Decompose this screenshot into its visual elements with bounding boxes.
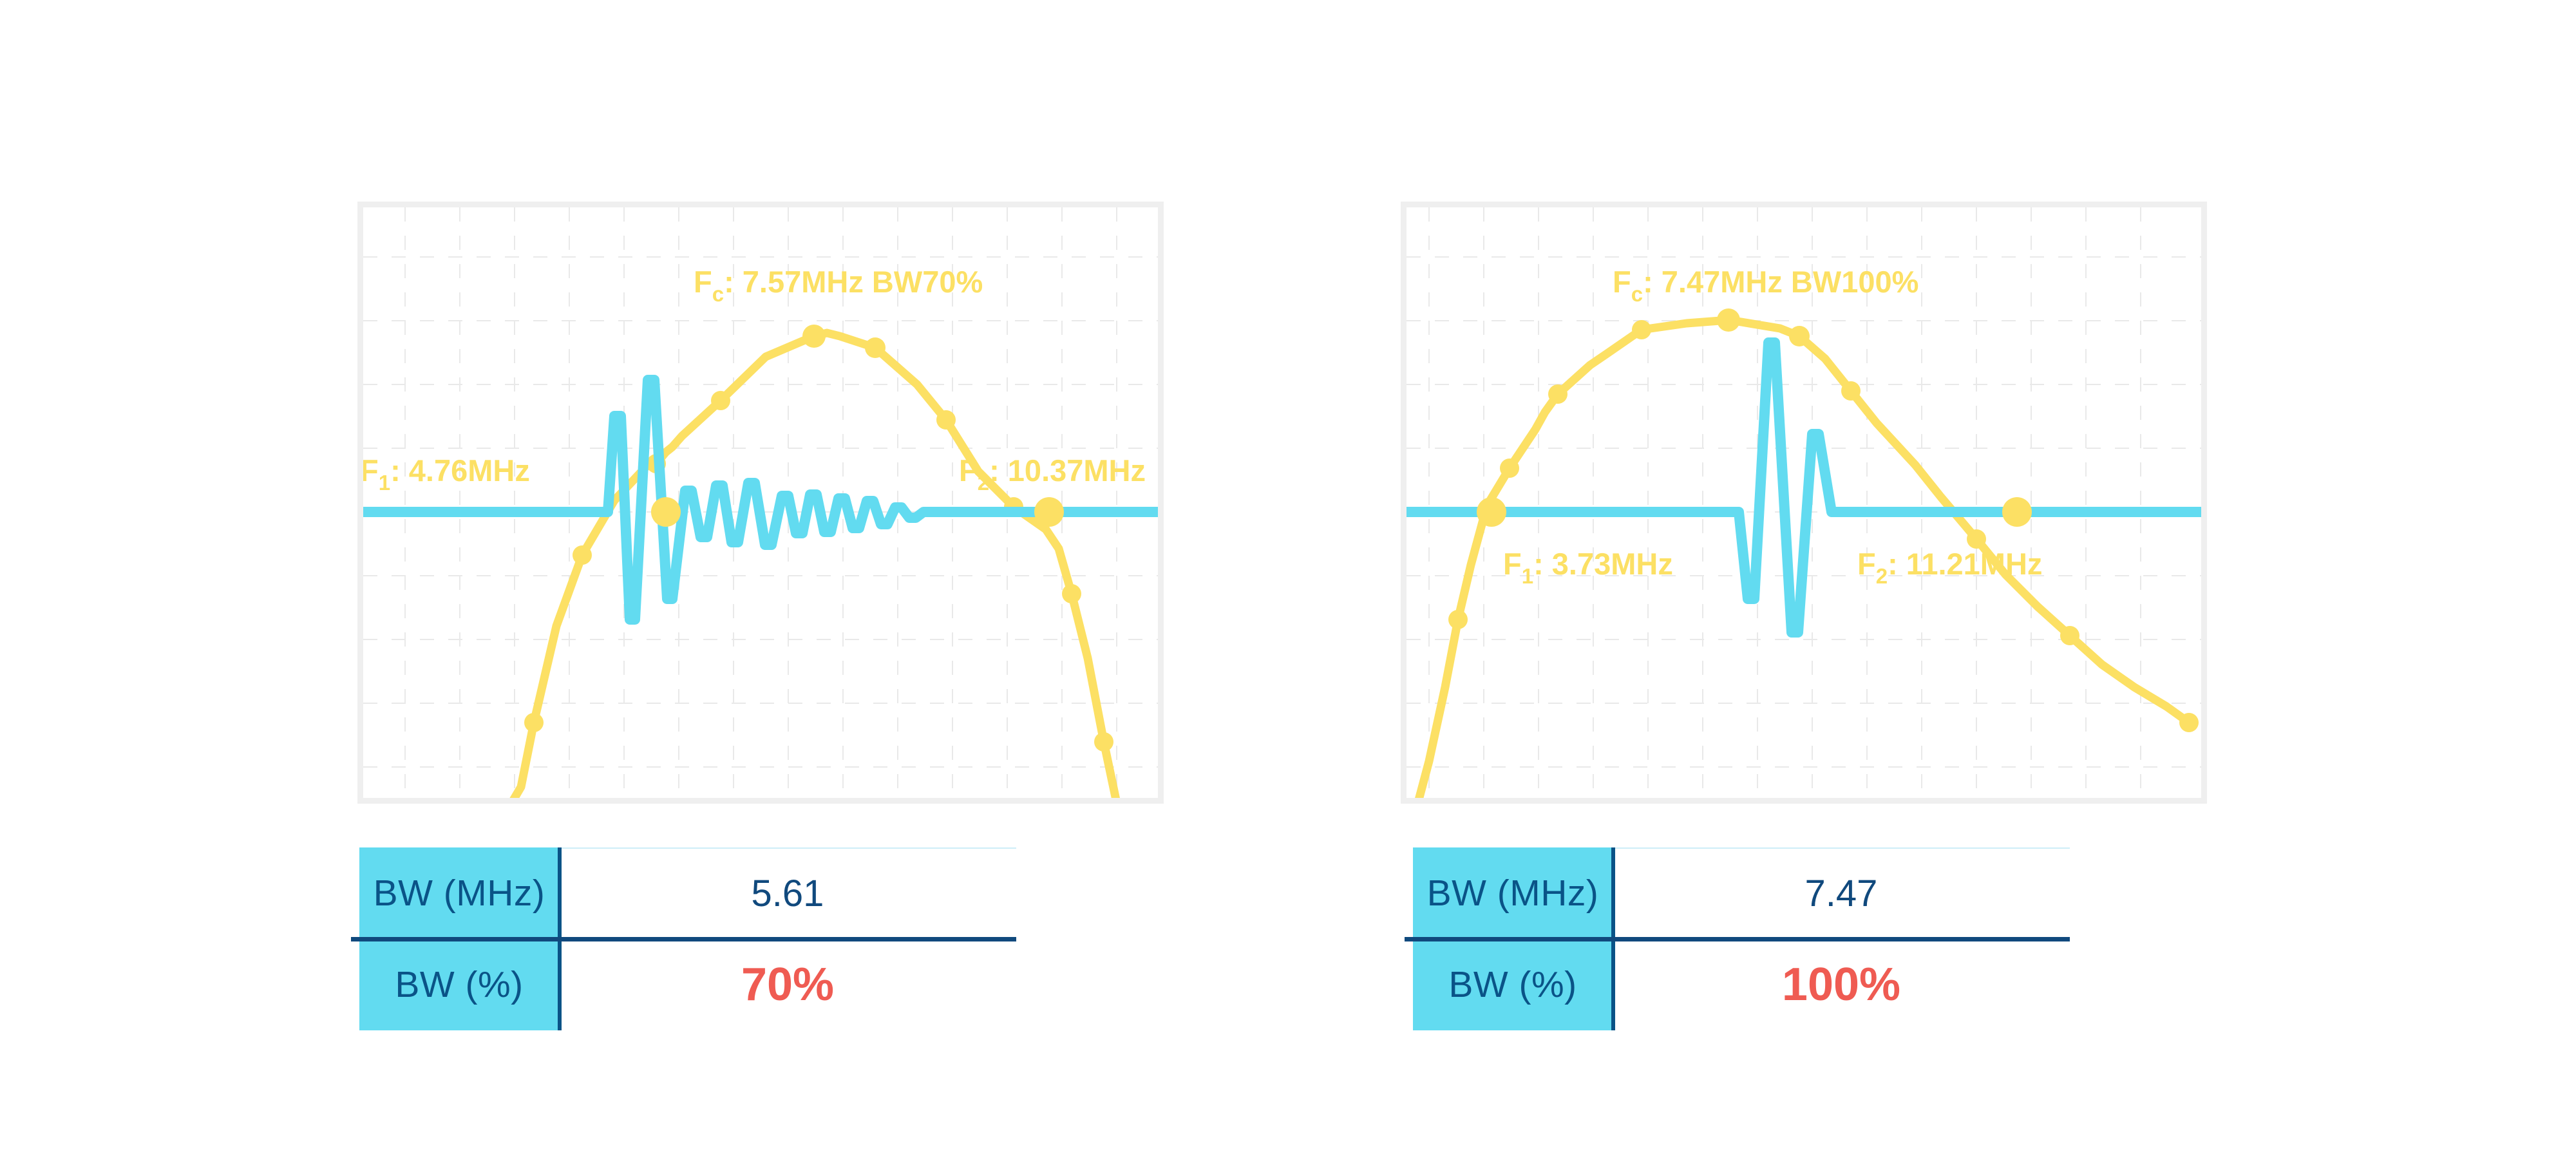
chart-panel-right: Fc: 7.47MHz BW100% F1: 3.73MHz F2: 11.21… (1401, 202, 2207, 804)
left-plot-svg: Fc: 7.57MHz BW70% F1: 4.76MHz F2: 10.37M… (363, 207, 1158, 798)
f1-prefix: F (363, 453, 379, 487)
annotation-upper-cutoff: F2: 10.37MHz (959, 453, 1146, 495)
f2-prefix: F (1857, 547, 1876, 581)
f1-subscript: 1 (1522, 564, 1533, 588)
row-value-cell-bw-percent: 70% (559, 939, 1016, 1030)
row-value-cell-bw-mhz: 7.47 (1613, 847, 2070, 939)
bw-percent-value: 70% (741, 958, 834, 1011)
row-header-bw-mhz: BW (MHz) (359, 847, 559, 939)
spectrum-curve (489, 333, 1117, 798)
fc-prefix: F (694, 265, 712, 299)
f1-text: : 3.73MHz (1533, 547, 1673, 581)
svg-text:Fc: 7.47MHz BW100%: Fc: 7.47MHz BW100% (1613, 265, 1918, 306)
fc-text: : 7.57MHz BW70% (724, 265, 983, 299)
f1-prefix: F (1503, 547, 1522, 581)
annotation-lower-cutoff: F1: 4.76MHz (363, 453, 530, 495)
row-header-bw-percent: BW (%) (1413, 939, 1613, 1030)
time-waveform (363, 380, 1158, 620)
spectrum-markers (524, 325, 1113, 752)
row-header-bw-mhz: BW (MHz) (1413, 847, 1613, 939)
row-header-bw-percent: BW (%) (359, 939, 559, 1030)
annotation-center-frequency: Fc: 7.57MHz BW70% (694, 265, 983, 306)
row-value-cell-bw-mhz: 5.61 (559, 847, 1016, 939)
annotation-center-frequency: Fc: 7.47MHz BW100% (1613, 265, 1918, 306)
f2-text: : 11.21MHz (1888, 547, 2042, 581)
table-row-divider (351, 937, 1016, 941)
bw-mhz-value: 7.47 (1805, 872, 1878, 915)
bw-table-right: BW (MHz) 7.47 BW (%) 100% (1413, 847, 2070, 1030)
table-row-divider (1405, 937, 2070, 941)
f1-subscript: 1 (379, 471, 390, 495)
table-row: BW (%) 100% (1413, 939, 2070, 1030)
row-header-label: BW (MHz) (374, 872, 545, 914)
chart-panel-left: Fc: 7.57MHz BW70% F1: 4.76MHz F2: 10.37M… (357, 202, 1164, 804)
bw-table-left: BW (MHz) 5.61 BW (%) 70% (359, 847, 1016, 1030)
svg-text:F2: 10.37MHz: F2: 10.37MHz (959, 453, 1146, 495)
f1-text: : 4.76MHz (390, 453, 530, 487)
f2-subscript: 2 (1876, 564, 1888, 588)
time-waveform (1406, 343, 2201, 632)
svg-text:Fc: 7.57MHz BW70%: Fc: 7.57MHz BW70% (694, 265, 983, 306)
f2-subscript: 2 (978, 471, 989, 495)
fc-subscript: c (712, 282, 724, 306)
table-row: BW (MHz) 5.61 (359, 847, 1016, 939)
f2-text: : 10.37MHz (989, 453, 1146, 487)
f2-prefix: F (959, 453, 978, 487)
figure-canvas: Fc: 7.57MHz BW70% F1: 4.76MHz F2: 10.37M… (0, 0, 2576, 1154)
row-value-cell-bw-percent: 100% (1613, 939, 2070, 1030)
svg-text:F1: 4.76MHz: F1: 4.76MHz (363, 453, 530, 495)
right-plot-svg: Fc: 7.47MHz BW100% F1: 3.73MHz F2: 11.21… (1406, 207, 2201, 798)
table-row: BW (MHz) 7.47 (1413, 847, 2070, 939)
row-header-label: BW (MHz) (1427, 872, 1599, 914)
fc-text: : 7.47MHz BW100% (1643, 265, 1918, 299)
row-header-label: BW (%) (1448, 963, 1577, 1006)
row-header-label: BW (%) (395, 963, 523, 1006)
bw-mhz-value: 5.61 (752, 872, 824, 915)
bw-percent-value: 100% (1782, 958, 1900, 1011)
table-row: BW (%) 70% (359, 939, 1016, 1030)
fc-prefix: F (1613, 265, 1631, 299)
fc-subscript: c (1631, 282, 1643, 306)
